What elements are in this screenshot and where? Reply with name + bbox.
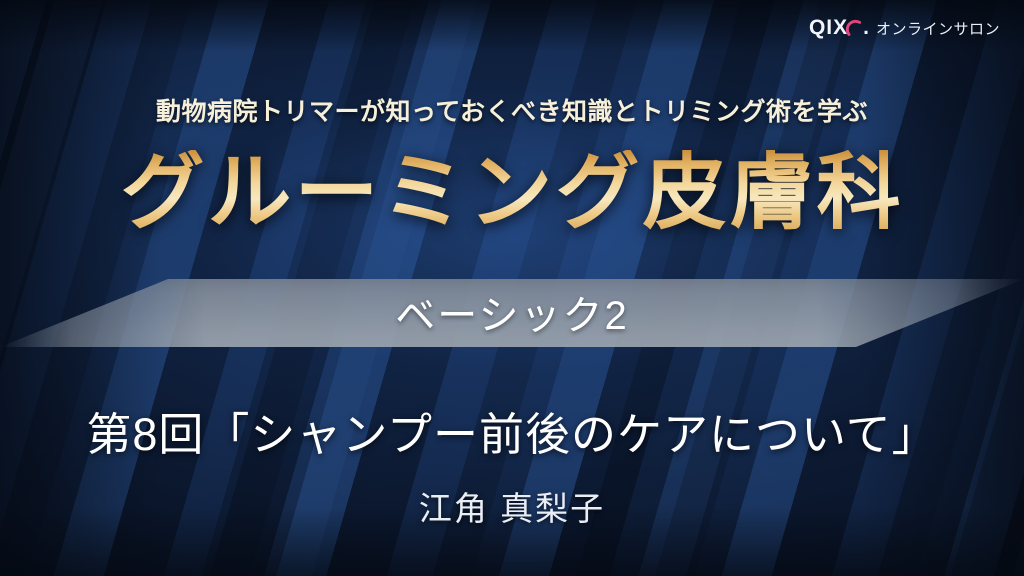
level-badge-label: ベーシック2 xyxy=(0,279,1024,347)
presenter-name: 江角 真梨子 xyxy=(0,482,1024,530)
logo-dot: . xyxy=(863,16,870,40)
logo-mark-text: QIX xyxy=(809,16,848,40)
logo-wordmark: QIX . xyxy=(809,16,870,40)
course-subtitle: 動物病院トリマーが知っておくべき知識とトリミング術を学ぶ xyxy=(0,92,1024,128)
level-band: ベーシック2 xyxy=(0,279,1024,347)
logo-service-name: オンラインサロン xyxy=(876,18,1000,39)
episode-title: 第8回「シャンプー前後のケアについて」 xyxy=(0,398,1024,463)
page-title: グルーミング皮膚科 xyxy=(0,150,1024,234)
pink-arc-icon xyxy=(845,19,864,38)
title-slide: QIX . オンラインサロン 動物病院トリマーが知っておくべき知識とトリミング術… xyxy=(0,0,1024,576)
brand-logo[interactable]: QIX . オンラインサロン xyxy=(809,16,1000,40)
